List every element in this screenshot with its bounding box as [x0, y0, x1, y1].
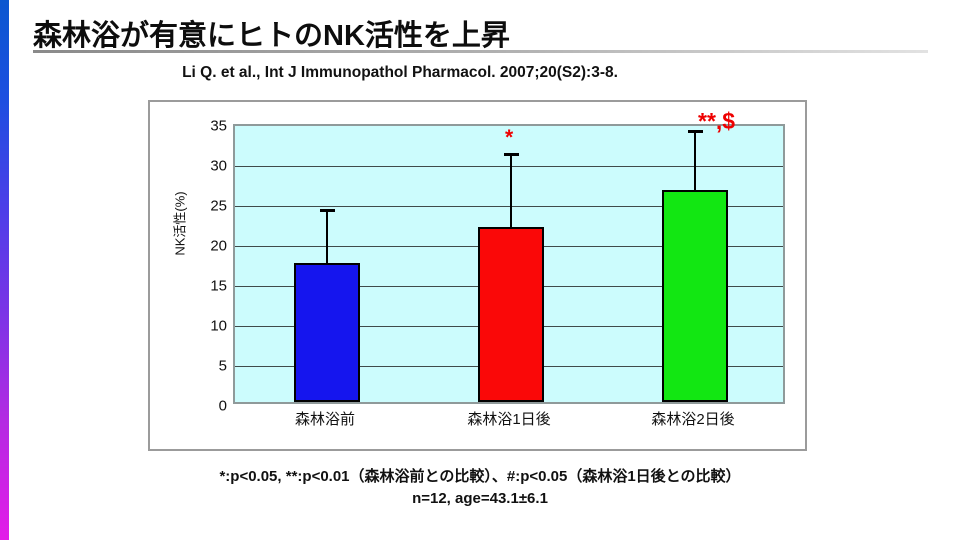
y-axis-tick: 5 — [187, 358, 227, 375]
error-bar-line — [510, 153, 512, 231]
significance-marker-3: **,$ — [698, 110, 735, 133]
y-axis-tick: 35 — [187, 118, 227, 135]
significance-marker-2: * — [505, 127, 513, 148]
error-bar-line — [694, 130, 696, 194]
footnotes: *:p<0.05, **:p<0.01（森林浴前との比較）、#:p<0.05（森… — [0, 466, 960, 510]
x-axis-tick: 森林浴前 — [295, 408, 355, 429]
y-axis-tick: 20 — [187, 238, 227, 255]
title-divider — [33, 50, 928, 53]
plot-area: ***,$ — [233, 124, 785, 404]
gridline — [235, 166, 783, 167]
y-axis-tick: 30 — [187, 158, 227, 175]
error-bar-line — [326, 209, 328, 267]
y-axis-tick: 0 — [187, 398, 227, 415]
slide-canvas: 森林浴が有意にヒトのNK活性を上昇 Li Q. et al., Int J Im… — [0, 0, 960, 540]
bar-2 — [478, 227, 544, 402]
error-bar-cap — [504, 153, 519, 156]
bar-3 — [662, 190, 728, 402]
y-axis-tick: 15 — [187, 278, 227, 295]
plot-inner: ***,$ — [235, 126, 783, 402]
bar-1 — [294, 263, 360, 402]
page-title: 森林浴が有意にヒトのNK活性を上昇 — [33, 12, 510, 54]
error-bar-cap — [320, 209, 335, 212]
x-axis-tick-labels: 森林浴前森林浴1日後森林浴2日後 — [233, 408, 785, 434]
y-axis-tick: 25 — [187, 198, 227, 215]
x-axis-tick: 森林浴1日後 — [467, 408, 550, 429]
y-axis-tick: 10 — [187, 318, 227, 335]
footnote-sample: n=12, age=43.1±6.1 — [0, 488, 960, 510]
citation-text: Li Q. et al., Int J Immunopathol Pharmac… — [0, 64, 800, 82]
chart-frame: NK活性(%) 05101520253035 ***,$ 森林浴前森林浴1日後森… — [148, 100, 807, 451]
footnote-significance: *:p<0.05, **:p<0.01（森林浴前との比較）、#:p<0.05（森… — [0, 466, 960, 488]
x-axis-tick: 森林浴2日後 — [651, 408, 734, 429]
y-axis-tick-labels: 05101520253035 — [183, 124, 227, 404]
